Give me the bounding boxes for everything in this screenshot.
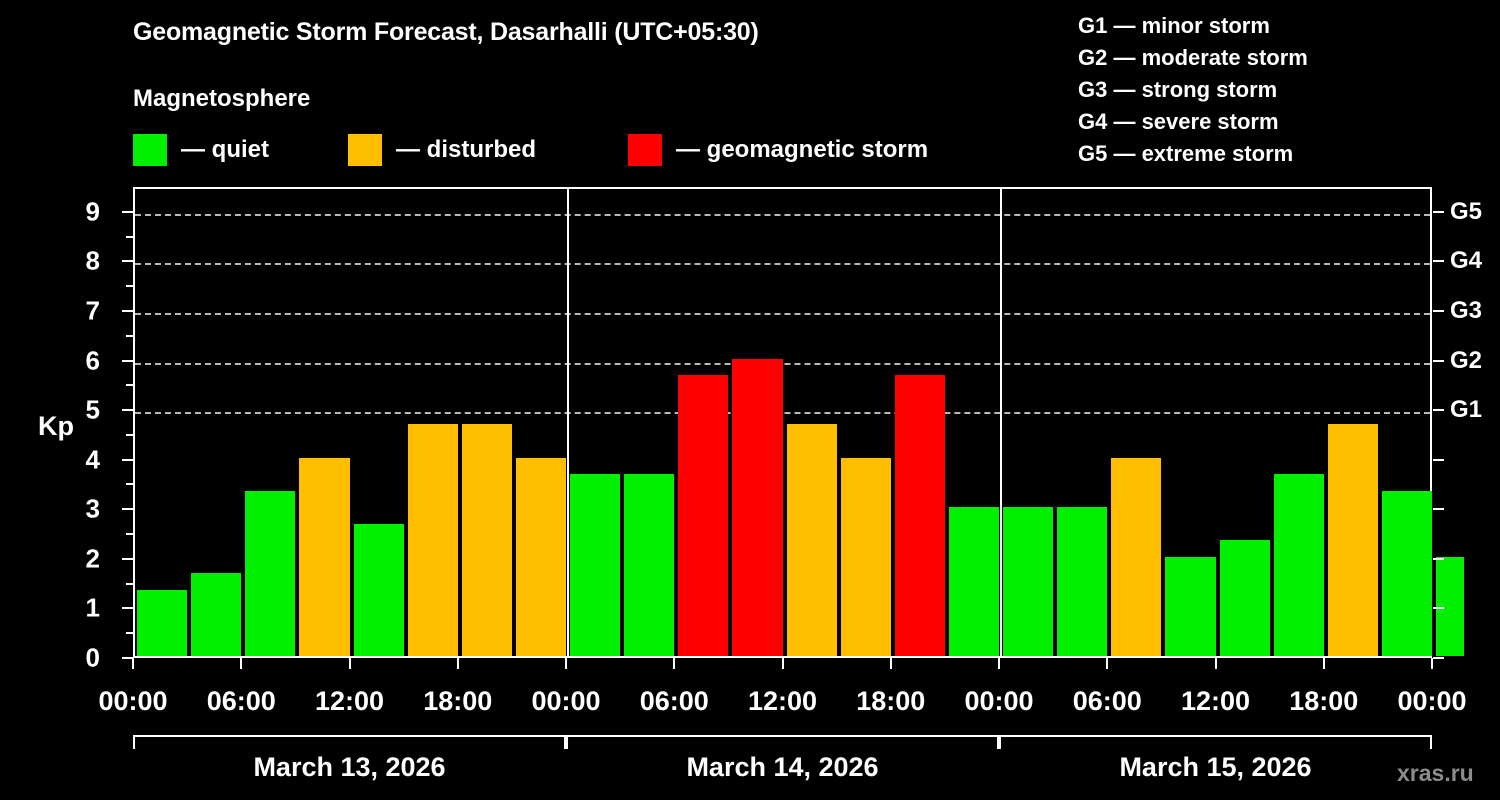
y-minor-tick: [126, 533, 133, 535]
y-tick-label-0: 0: [66, 643, 100, 674]
y-tick-mark-8: [122, 260, 133, 262]
y-minor-tick: [126, 583, 133, 585]
right-axis-minor-tick: [1433, 508, 1444, 510]
bar: [245, 491, 295, 656]
legend-entry-geomagnetic-storm: — geomagnetic storm: [628, 133, 928, 167]
x-tick-label: 00:00: [1397, 686, 1466, 717]
y-minor-tick: [126, 236, 133, 238]
bar: [1111, 458, 1161, 656]
y-tick-label-8: 8: [66, 246, 100, 277]
bar: [895, 375, 945, 656]
bar: [462, 424, 512, 656]
x-tick-label: 18:00: [1289, 686, 1358, 717]
y-tick-label-5: 5: [66, 395, 100, 426]
g-legend-row-g5: G5 — extreme storm: [1078, 138, 1478, 170]
x-tick-mark: [1323, 658, 1325, 669]
x-tick-label: 00:00: [964, 686, 1033, 717]
bar: [732, 359, 782, 656]
g-legend-row-g3: G3 — strong storm: [1078, 74, 1478, 106]
y-minor-tick: [126, 285, 133, 287]
y-minor-tick: [126, 434, 133, 436]
right-axis-minor-tick: [1433, 558, 1444, 560]
y-tick-mark-1: [122, 607, 133, 609]
x-tick-mark: [349, 658, 351, 669]
y-tick-mark-7: [122, 310, 133, 312]
plot-inner: [135, 189, 1430, 656]
g-tick-mark-5: [1433, 409, 1444, 411]
bar: [408, 424, 458, 656]
x-tick-label: 12:00: [1181, 686, 1250, 717]
bar: [191, 573, 241, 656]
legend-swatch-quiet: [133, 134, 167, 166]
gridline-kp-7: [135, 313, 1430, 315]
y-tick-mark-5: [122, 409, 133, 411]
bar: [787, 424, 837, 656]
x-tick-mark: [240, 658, 242, 669]
x-tick-mark: [673, 658, 675, 669]
y-minor-tick: [126, 335, 133, 337]
g-scale-legend: G1 — minor stormG2 — moderate stormG3 — …: [1078, 10, 1478, 170]
magnetosphere-label: Magnetosphere: [133, 85, 310, 113]
day-divider-1: [567, 189, 569, 656]
x-tick-mark: [1106, 658, 1108, 669]
legend-swatch-geomagnetic-storm: [628, 134, 662, 166]
legend-label-geomagnetic-storm: — geomagnetic storm: [676, 138, 928, 162]
y-tick-label-3: 3: [66, 494, 100, 525]
g-tick-label-g5: G5: [1450, 198, 1500, 226]
bar: [1274, 474, 1324, 656]
gridline-kp-6: [135, 363, 1430, 365]
page-title: Geomagnetic Storm Forecast, Dasarhalli (…: [133, 18, 759, 47]
x-tick-mark: [890, 658, 892, 669]
y-tick-mark-3: [122, 508, 133, 510]
g-tick-mark-7: [1433, 310, 1444, 312]
x-tick-label: 06:00: [640, 686, 709, 717]
g-tick-label-g1: G1: [1450, 396, 1500, 424]
x-tick-label: 18:00: [423, 686, 492, 717]
watermark: xras.ru: [1397, 760, 1474, 787]
bar: [570, 474, 620, 656]
y-minor-tick: [126, 483, 133, 485]
legend-entry-disturbed: — disturbed: [348, 133, 536, 167]
right-axis-minor-tick: [1433, 607, 1444, 609]
day-divider-2: [1000, 189, 1002, 656]
g-tick-label-g4: G4: [1450, 247, 1500, 275]
g-legend-row-g1: G1 — minor storm: [1078, 10, 1478, 42]
right-axis-minor-tick: [1433, 459, 1444, 461]
x-tick-mark: [565, 658, 567, 669]
gridline-kp-9: [135, 214, 1430, 216]
y-minor-tick: [126, 384, 133, 386]
legend-label-quiet: — quiet: [181, 138, 269, 162]
legend-label-disturbed: — disturbed: [396, 138, 536, 162]
x-tick-label: 06:00: [1073, 686, 1142, 717]
y-tick-mark-9: [122, 211, 133, 213]
bar: [354, 524, 404, 656]
plot-area: [133, 187, 1432, 658]
g-legend-row-g2: G2 — moderate storm: [1078, 42, 1478, 74]
day-bracket-3: [999, 735, 1432, 749]
x-tick-label: 00:00: [531, 686, 600, 717]
g-tick-mark-6: [1433, 360, 1444, 362]
g-tick-label-g2: G2: [1450, 347, 1500, 375]
right-axis-minor-tick: [1433, 657, 1444, 659]
bar: [1220, 540, 1270, 656]
day-bracket-2: [566, 735, 999, 749]
y-tick-label-6: 6: [66, 345, 100, 376]
bar: [841, 458, 891, 656]
bar: [949, 507, 999, 656]
x-tick-mark: [132, 658, 134, 669]
x-tick-label: 18:00: [856, 686, 925, 717]
y-tick-label-4: 4: [66, 444, 100, 475]
y-tick-mark-4: [122, 459, 133, 461]
bar: [1003, 507, 1053, 656]
x-tick-mark: [782, 658, 784, 669]
x-tick-mark: [1215, 658, 1217, 669]
x-tick-label: 00:00: [98, 686, 167, 717]
gridline-kp-5: [135, 412, 1430, 414]
day-label-2: March 14, 2026: [686, 752, 878, 783]
x-tick-label: 12:00: [748, 686, 817, 717]
bar: [624, 474, 674, 656]
bar: [299, 458, 349, 656]
y-tick-label-7: 7: [66, 295, 100, 326]
y-tick-label-2: 2: [66, 543, 100, 574]
bar: [516, 458, 566, 656]
g-tick-mark-9: [1433, 211, 1444, 213]
day-label-1: March 13, 2026: [253, 752, 445, 783]
bar: [1328, 424, 1378, 656]
bar: [1165, 557, 1215, 656]
bar: [678, 375, 728, 656]
gridline-kp-8: [135, 263, 1430, 265]
bar: [1057, 507, 1107, 656]
y-tick-label-1: 1: [66, 593, 100, 624]
x-tick-mark: [457, 658, 459, 669]
bar: [137, 590, 187, 656]
g-tick-mark-8: [1433, 260, 1444, 262]
day-label-3: March 15, 2026: [1119, 752, 1311, 783]
bar: [1382, 491, 1432, 656]
y-tick-mark-2: [122, 558, 133, 560]
y-minor-tick: [126, 632, 133, 634]
y-tick-mark-6: [122, 360, 133, 362]
day-bracket-1: [133, 735, 566, 749]
x-tick-mark: [998, 658, 1000, 669]
y-tick-label-9: 9: [66, 196, 100, 227]
legend-entry-quiet: — quiet: [133, 133, 269, 167]
legend-swatch-disturbed: [348, 134, 382, 166]
x-tick-mark: [1431, 658, 1433, 669]
x-tick-label: 06:00: [207, 686, 276, 717]
x-tick-label: 12:00: [315, 686, 384, 717]
geomagnetic-forecast-chart: Geomagnetic Storm Forecast, Dasarhalli (…: [0, 0, 1500, 800]
g-tick-label-g3: G3: [1450, 297, 1500, 325]
g-legend-row-g4: G4 — severe storm: [1078, 106, 1478, 138]
